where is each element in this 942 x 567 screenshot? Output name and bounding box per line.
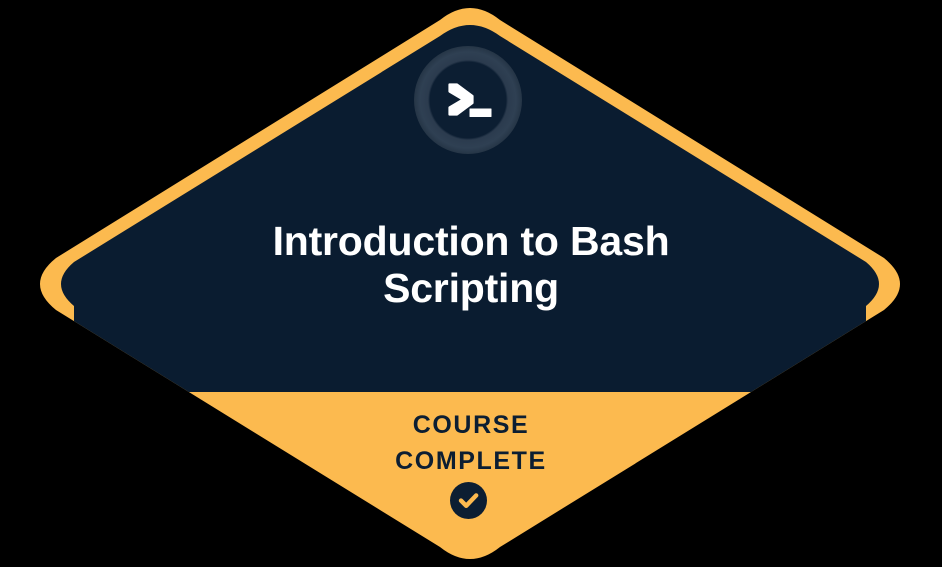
footer-line-2: COMPLETE xyxy=(141,443,801,479)
footer-line-1: COURSE xyxy=(141,407,801,443)
terminal-glyph xyxy=(414,46,522,154)
title-line-2: Scripting xyxy=(141,265,801,312)
page-title: Introduction to Bash Scripting xyxy=(141,218,801,312)
title-line-1: Introduction to Bash xyxy=(141,218,801,265)
check-circle-icon xyxy=(450,482,487,519)
checkmark-glyph xyxy=(450,482,487,519)
terminal-prompt-icon xyxy=(414,46,522,154)
badge-canvas: Introduction to Bash Scripting COURSE CO… xyxy=(0,0,942,567)
status-badge: COURSE COMPLETE xyxy=(141,407,801,479)
